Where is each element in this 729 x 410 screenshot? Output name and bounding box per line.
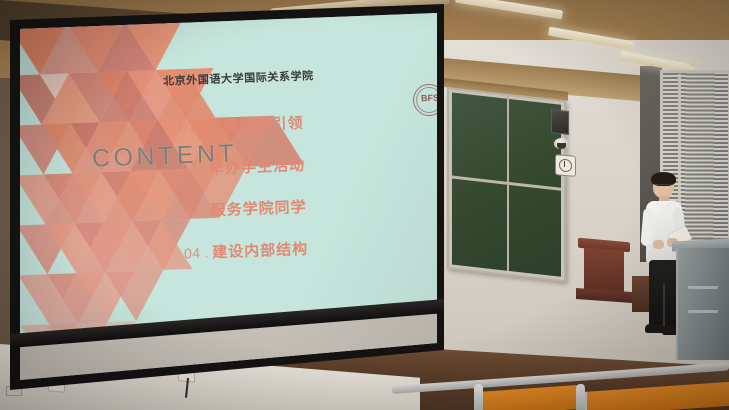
ceiling-light-icon [689, 60, 696, 67]
toc-label: 建设内部结构 [212, 238, 309, 263]
wall-speaker-icon [551, 109, 569, 135]
emblem-label: BFSU [421, 93, 435, 105]
toc-number: 03 [182, 203, 199, 220]
lecture-hall-photo: 北京外国语大学国际关系学院 BFSU CONTENT 01 . 开展思想引领 0… [0, 0, 729, 410]
projection-screen[interactable]: 北京外国语大学国际关系学院 BFSU CONTENT 01 . 开展思想引领 0… [0, 4, 444, 390]
cabinet-handle[interactable] [688, 286, 718, 289]
toc-label: 服务学院同学 [210, 196, 307, 221]
presenter-hand-left [653, 240, 664, 249]
presenter-leg-gap [663, 284, 665, 328]
wooden-lectern[interactable] [584, 248, 624, 295]
desk-post [474, 384, 483, 410]
desk-post [576, 384, 585, 410]
toc-number: 02 [181, 161, 198, 178]
toc-label: 举办学生活动 [209, 154, 306, 179]
cabinet-handle[interactable] [688, 310, 718, 313]
toc-separator: . [201, 162, 205, 177]
clock-hands [564, 161, 565, 167]
green-chalkboard[interactable] [447, 87, 566, 282]
slide-table-of-contents: 01 . 开展思想引领 02 . 举办学生活动 03 . 服务学院同学 [179, 108, 425, 285]
toc-separator: . [200, 120, 204, 135]
toc-item: 04 . 建设内部结构 [184, 234, 425, 285]
toc-separator: . [203, 204, 207, 219]
toc-separator: . [204, 245, 208, 260]
dome-camera-icon [554, 138, 569, 149]
slide-institution-heading: 北京外国语大学国际关系学院 [163, 67, 314, 89]
gray-metal-cabinet[interactable] [676, 248, 729, 360]
toc-label: 开展思想引领 [207, 112, 304, 137]
toc-number: 01 [179, 119, 196, 136]
wall-clock-icon [555, 154, 576, 177]
toc-number: 04 [184, 245, 201, 262]
glasses-icon [654, 184, 673, 189]
